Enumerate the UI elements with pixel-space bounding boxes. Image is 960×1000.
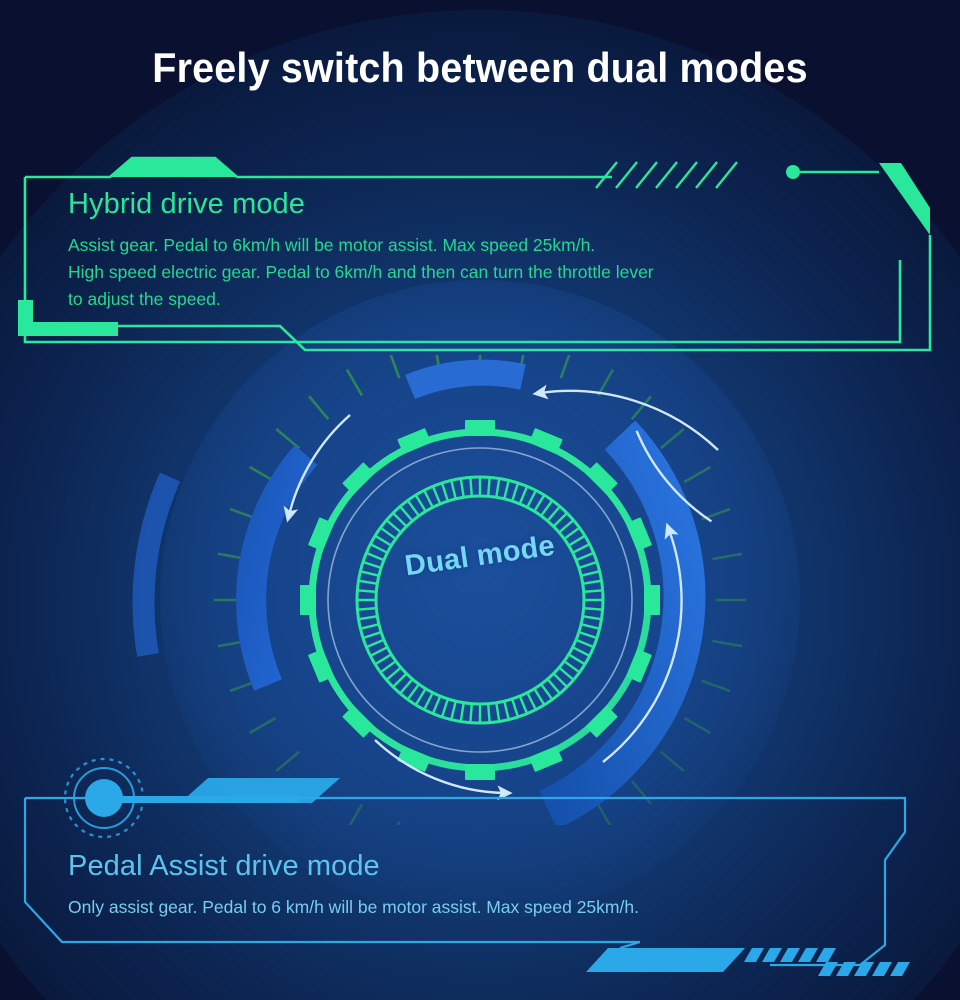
hybrid-panel-line-2: High speed electric gear. Pedal to 6km/h… [68, 259, 928, 286]
pedal-decor-dash-group-lower [818, 962, 910, 976]
blue-arc-segment-outer-left [144, 477, 170, 655]
hatched-inner-ring [355, 475, 605, 725]
pedal-panel-body: Only assist gear. Pedal to 6 km/h will b… [68, 894, 928, 921]
pedal-panel-line-1: Only assist gear. Pedal to 6 km/h will b… [68, 894, 928, 921]
hybrid-panel-body: Assist gear. Pedal to 6km/h will be moto… [68, 232, 928, 313]
hybrid-panel-top-tab [110, 158, 237, 177]
gear-ring [300, 420, 660, 780]
pedal-node-dot [85, 779, 123, 817]
hybrid-panel-corner-wedge [879, 163, 930, 235]
hybrid-panel-line-3: to adjust the speed. [68, 286, 928, 313]
hybrid-panel-line-1: Assist gear. Pedal to 6km/h will be moto… [68, 232, 928, 259]
hybrid-panel-node-dot [786, 165, 800, 179]
pedal-decor-parallelogram-bottom [586, 948, 745, 972]
page-title: Freely switch between dual modes [29, 44, 931, 92]
decor-slashes [596, 162, 737, 188]
pedal-decor-dash-group-upper [744, 948, 836, 962]
pedal-panel-heading: Pedal Assist drive mode [68, 850, 768, 883]
pedal-assist-drive-mode-panel: Pedal Assist drive mode Only assist gear… [0, 770, 960, 1000]
pedal-decor-parallelogram-top [180, 778, 340, 803]
hybrid-panel-heading: Hybrid drive mode [68, 188, 768, 221]
hybrid-drive-mode-panel: Hybrid drive mode Assist gear. Pedal to … [0, 150, 960, 375]
poster-stage: Freely switch between dual modes [0, 0, 960, 1000]
hybrid-panel-top-edge [25, 158, 560, 177]
